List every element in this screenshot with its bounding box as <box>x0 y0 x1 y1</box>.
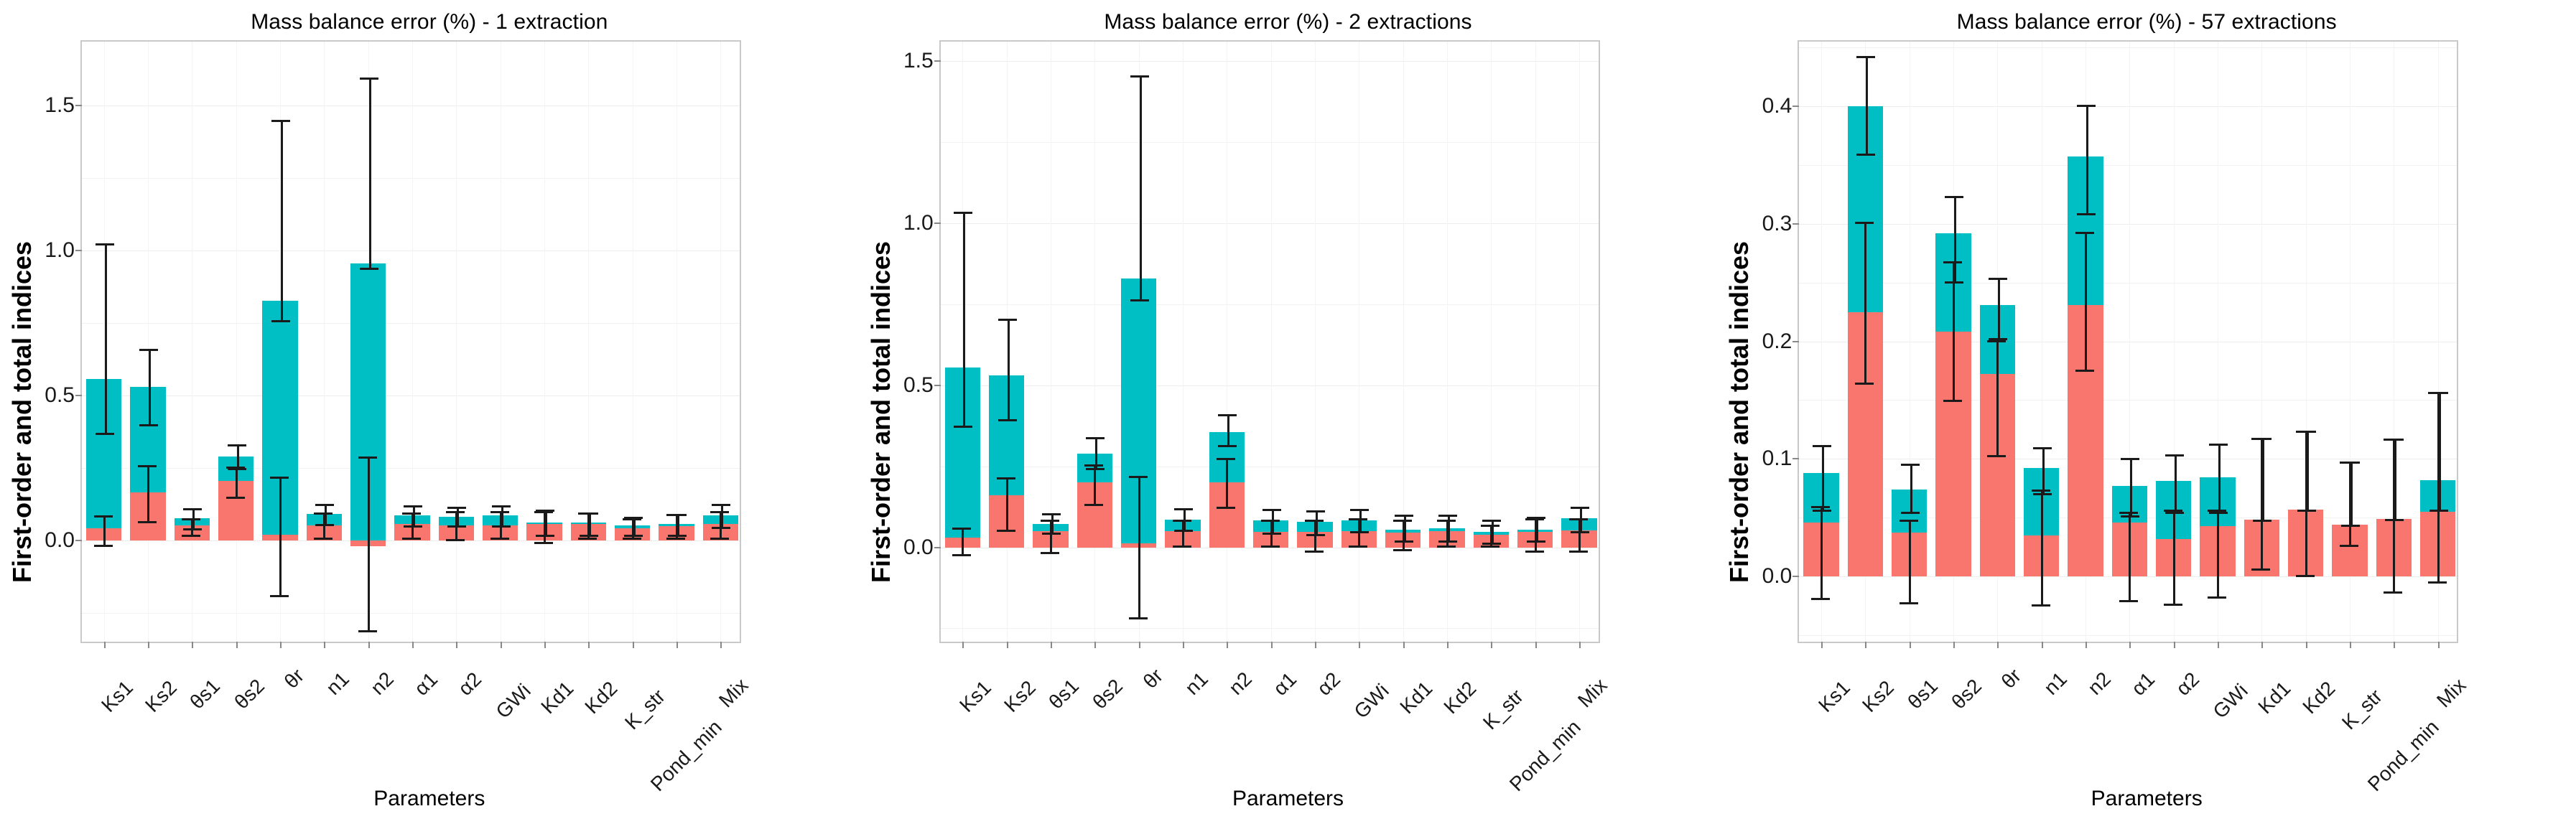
y-axis-tick-label: 0.5 <box>903 373 934 398</box>
x-axis-tick-label: α2 <box>2172 668 2204 700</box>
x-axis-tick-mark <box>104 642 106 648</box>
error-bar-total-cap <box>1263 509 1281 511</box>
x-axis-tick-mark <box>1953 642 1955 648</box>
error-bar-total <box>1866 56 1868 154</box>
error-bar-total-cap <box>1438 540 1457 543</box>
x-axis-tick-label: n2 <box>366 668 399 700</box>
y-axis-tick-mark <box>75 250 82 251</box>
error-bar-first-order <box>279 477 282 596</box>
x-axis-tick-label: Pond_min <box>2363 716 2444 796</box>
error-bar-total <box>1184 508 1186 529</box>
error-bar-total-cap <box>2209 512 2228 514</box>
error-bar-first-order <box>1909 520 1911 602</box>
error-bar-total-cap <box>2165 512 2184 514</box>
error-bar-total-cap <box>1218 414 1237 416</box>
panel-title: Mass balance error (%) - 2 extractions <box>859 10 1718 34</box>
bar-group[interactable] <box>1209 42 1245 642</box>
bar-group[interactable] <box>307 42 342 642</box>
bar-group[interactable] <box>175 42 210 642</box>
x-axis-tick-label: α1 <box>410 668 442 700</box>
error-bar-total-cap <box>1263 533 1281 535</box>
error-bar-first-order <box>236 467 238 497</box>
x-axis-tick-label: α2 <box>454 668 486 700</box>
error-bar-first-order-cap <box>1437 520 1456 522</box>
error-bar-total-cap <box>1395 515 1413 517</box>
error-bar-first-order <box>103 515 106 544</box>
x-axis-tick-mark <box>1821 642 1823 648</box>
error-bar-first-order-cap <box>1217 507 1235 509</box>
x-axis-tick-label: GWi <box>1350 679 1394 723</box>
y-axis-tick-mark <box>75 105 82 106</box>
error-bar-first-order-cap <box>2032 604 2050 607</box>
y-axis-tick-label: 0.0 <box>45 528 75 553</box>
x-axis-tick-label-wrap: Kd2 <box>2323 652 2365 693</box>
error-bar-first-order-cap <box>358 630 377 632</box>
error-bar-total-cap <box>2209 444 2228 446</box>
error-bar-total-cap <box>2121 515 2139 518</box>
bar-group[interactable] <box>1077 42 1112 642</box>
error-bar-first-order-cap <box>446 511 465 513</box>
error-bar-total-cap <box>998 319 1017 321</box>
x-axis-tick-mark <box>1447 642 1449 648</box>
error-bar-total <box>2394 439 2396 518</box>
error-bar-total-cap <box>492 505 511 507</box>
error-bar-first-order <box>1996 340 1999 455</box>
error-bar-total <box>2439 392 2441 510</box>
error-bar-first-order <box>1226 458 1228 507</box>
error-bar-total <box>1998 278 2000 338</box>
y-axis-tick-mark <box>75 540 82 541</box>
bar-group[interactable] <box>571 42 606 642</box>
error-bar-total <box>1095 437 1097 468</box>
bar-group[interactable] <box>989 42 1024 642</box>
error-bar-first-order-cap <box>1569 551 1588 553</box>
error-bar-first-order <box>2085 232 2087 370</box>
bar-group[interactable] <box>1429 42 1464 642</box>
x-axis-tick-label-wrap: α1 <box>1285 652 1317 684</box>
bar-group[interactable] <box>1253 42 1288 642</box>
x-axis-tick-label: α1 <box>1269 668 1301 700</box>
x-axis-tick-mark <box>676 642 678 648</box>
x-axis-tick-mark <box>236 642 238 648</box>
x-axis-tick-label-wrap: α2 <box>470 652 503 684</box>
x-axis-tick-label: α1 <box>2127 668 2159 700</box>
error-bar-first-order-cap <box>534 542 553 544</box>
error-bar-first-order-cap <box>1305 520 1324 522</box>
error-bar-total-cap <box>954 426 972 428</box>
error-bar-total-cap <box>96 433 114 435</box>
x-axis-tick-label: K_str <box>2338 685 2387 734</box>
x-axis-tick-mark <box>1997 642 1999 648</box>
x-axis-tick-mark <box>1271 642 1273 648</box>
x-axis-tick-label: K_str <box>620 685 670 734</box>
error-bar-first-order-cap <box>1173 546 1191 548</box>
error-bar-total-cap <box>1571 507 1589 509</box>
panel-2-extractions: Mass balance error (%) - 2 extractions F… <box>859 0 1718 824</box>
panel-title: Mass balance error (%) - 57 extractions <box>1717 10 2576 34</box>
error-bar-total-cap <box>2121 458 2139 460</box>
x-axis-tick-mark <box>1865 642 1866 648</box>
y-axis-tick-mark <box>1792 223 1799 225</box>
error-bar-total-cap <box>1395 540 1413 543</box>
x-axis-tick-mark <box>2261 642 2263 648</box>
error-bar-first-order-cap <box>1569 518 1588 520</box>
error-bar-total-cap <box>1571 531 1589 533</box>
x-axis-tick-label: Pond_min <box>646 716 727 796</box>
error-bar-first-order-cap <box>314 512 333 515</box>
figure-multi-panel: Mass balance error (%) - 1 extraction Fi… <box>0 0 2576 824</box>
error-bar-total-cap <box>1482 543 1501 545</box>
x-axis-tick-mark <box>1315 642 1316 648</box>
bar-group[interactable] <box>394 42 429 642</box>
error-bar-first-order-cap <box>997 530 1015 532</box>
error-bar-total <box>1272 509 1274 533</box>
error-bar-first-order-cap <box>270 477 289 479</box>
x-axis-tick-label-wrap: θr <box>292 652 321 680</box>
error-bar-total <box>1404 515 1406 540</box>
x-axis-tick-label: n2 <box>1224 668 1257 700</box>
error-bar-first-order-cap <box>94 545 113 547</box>
x-axis-tick-label-wrap: n2 <box>382 652 414 684</box>
error-bar-total-cap <box>2253 520 2272 522</box>
error-bar-total-cap <box>2385 519 2404 521</box>
x-axis-tick-label-wrap: θr <box>2010 652 2039 680</box>
error-bar-total-cap <box>1086 437 1105 439</box>
error-bar-first-order <box>1094 464 1096 503</box>
error-bar-first-order <box>2041 490 2043 604</box>
x-axis-tick-label-wrap: α2 <box>1329 652 1361 684</box>
error-bar-total <box>2218 444 2221 512</box>
error-bar-total-cap <box>183 528 202 530</box>
x-axis-tick-label: θs2 <box>1947 675 1986 714</box>
error-bar-total-cap <box>271 120 290 122</box>
y-axis-tick-mark <box>1792 341 1799 342</box>
error-bar-first-order-cap <box>94 515 113 518</box>
error-bar-first-order-cap <box>446 539 465 541</box>
bar-group[interactable] <box>1165 42 1200 642</box>
error-bar-total-cap <box>1174 508 1193 510</box>
error-bar-total <box>1359 509 1362 531</box>
y-axis-tick-mark <box>1792 458 1799 459</box>
error-bar-first-order-cap <box>490 538 509 540</box>
error-bar-first-order-cap <box>2208 596 2226 599</box>
error-bar-first-order-cap <box>2251 568 2270 571</box>
error-bar-total-cap <box>2033 447 2052 449</box>
error-bar-total-cap <box>2077 105 2096 107</box>
bar-group[interactable] <box>439 42 474 642</box>
error-bar-total-cap <box>2341 462 2360 464</box>
x-axis-tick-label-wrap: n2 <box>1240 652 1273 684</box>
plot-area: 0.00.10.20.30.4Ks1Ks2θs1θs2θrn1n2α1α2GWi… <box>1798 40 2458 643</box>
error-bar-total <box>1910 464 1912 512</box>
error-bar-total-cap <box>1527 517 1545 519</box>
x-axis-tick-label-wrap: n1 <box>338 652 370 684</box>
x-axis-tick-label-wrap: α1 <box>2144 652 2176 684</box>
error-bar-first-order-cap <box>2296 575 2315 577</box>
error-bar-total <box>2042 447 2045 493</box>
y-axis-tick-label: 0.4 <box>1762 94 1792 118</box>
x-axis-tick-mark <box>2174 642 2175 648</box>
bar-group[interactable] <box>703 42 738 642</box>
x-axis-tick-mark <box>1535 642 1537 648</box>
error-bar-first-order-cap <box>1900 520 1918 522</box>
error-bar-first-order-cap <box>1129 476 1148 478</box>
x-axis-tick-label-wrap: n2 <box>2099 652 2131 684</box>
error-bar-total <box>369 78 371 268</box>
x-axis-tick-mark <box>192 642 193 648</box>
error-bar-first-order-cap <box>2384 591 2402 594</box>
error-bar-first-order-cap <box>2119 512 2138 514</box>
error-bar-total-cap <box>668 535 687 537</box>
error-bar-first-order-cap <box>1525 551 1544 553</box>
error-bar-first-order-cap <box>138 521 157 523</box>
x-axis-tick-mark <box>2394 642 2395 648</box>
x-axis-tick-mark <box>1491 642 1492 648</box>
error-bar-total <box>1954 196 1956 282</box>
y-axis-tick-label: 0.0 <box>1762 564 1792 589</box>
error-bar-total-cap <box>1482 520 1501 522</box>
error-bar-total <box>1822 445 1824 510</box>
error-bar-total-cap <box>96 243 114 245</box>
x-axis-tick-label: Ks1 <box>955 676 996 717</box>
error-bar-total-cap <box>271 320 290 322</box>
error-bar-total-cap <box>1901 464 1920 466</box>
y-axis-label: First-order and total indices <box>1723 0 1756 824</box>
x-axis-tick-label: n1 <box>322 668 354 700</box>
bar-group[interactable] <box>659 42 694 642</box>
error-bar-total-cap <box>2429 510 2448 512</box>
error-bar-total-cap <box>1945 196 1963 198</box>
plot-area: 0.00.51.01.5Ks1Ks2θs1θs2θrn1n2α1α2GWiKd1… <box>939 40 1600 643</box>
error-bar-first-order-cap <box>1129 617 1148 619</box>
error-bar-total-cap <box>2077 213 2096 215</box>
error-bar-total <box>1580 507 1582 531</box>
error-bar-total-cap <box>2033 493 2052 495</box>
y-axis-tick-label: 1.5 <box>45 93 75 118</box>
error-bar-total-cap <box>1350 531 1369 533</box>
error-bar-total-cap <box>2429 392 2448 394</box>
y-axis-tick-label: 1.5 <box>903 49 934 73</box>
error-bar-first-order-cap <box>182 518 200 520</box>
error-bar-first-order-cap <box>2164 604 2182 606</box>
error-bar-first-order-cap <box>710 511 729 513</box>
error-bar-first-order-cap <box>1900 602 1918 604</box>
x-axis-tick-mark <box>720 642 722 648</box>
error-bar-total-cap <box>1086 468 1105 470</box>
error-bar-total-cap <box>2385 439 2404 441</box>
error-bar-first-order-cap <box>1855 222 1874 224</box>
x-axis-tick-label: Ks1 <box>97 676 138 717</box>
bar-group[interactable] <box>483 42 518 642</box>
error-bar-total-cap <box>580 535 598 537</box>
error-bar-first-order-cap <box>578 538 597 540</box>
x-axis-tick-mark <box>1910 642 1911 648</box>
error-bar-total-cap <box>954 212 972 214</box>
error-bar-total-cap <box>1901 512 1920 514</box>
error-bar-total-cap <box>1042 533 1061 535</box>
error-bar-first-order <box>2217 510 2219 596</box>
x-axis-tick-mark <box>544 642 546 648</box>
error-bar-first-order-cap <box>1987 455 2006 457</box>
bar-group[interactable] <box>1474 42 1509 642</box>
error-bar-total <box>149 349 151 424</box>
error-bar-total-cap <box>1813 445 1831 447</box>
error-bar-total-cap <box>2341 525 2360 527</box>
error-bar-first-order-cap <box>623 538 641 540</box>
error-bar-total-cap <box>1527 540 1545 543</box>
error-bar-first-order <box>368 457 370 630</box>
error-bar-total <box>237 444 239 467</box>
error-bar-total-cap <box>624 517 643 519</box>
error-bar-total <box>2175 454 2177 512</box>
bar-group[interactable] <box>86 42 121 642</box>
y-axis-tick-mark <box>934 223 941 224</box>
error-bar-total <box>281 120 283 320</box>
error-bar-total-cap <box>1438 515 1457 517</box>
error-bar-first-order-cap <box>314 538 333 540</box>
x-axis-tick-mark <box>2086 642 2087 648</box>
error-bar-total-cap <box>1989 278 2007 280</box>
x-axis-tick-mark <box>1139 642 1140 648</box>
error-bar-total-cap <box>139 424 158 426</box>
x-axis-tick-mark <box>1007 642 1008 648</box>
error-bar-first-order-cap <box>2032 490 2050 492</box>
x-axis-tick-label-wrap: Kd2 <box>1465 652 1507 693</box>
error-bar-first-order-cap <box>1811 506 1830 508</box>
error-bar-total <box>192 508 195 528</box>
error-bar-first-order-cap <box>1349 546 1367 548</box>
bar-group[interactable] <box>130 42 165 642</box>
bars-layer <box>941 42 1599 642</box>
error-bar-total <box>325 504 327 524</box>
x-axis-tick-label-wrap: Kd2 <box>606 652 648 693</box>
error-bar-first-order-cap <box>1261 520 1280 522</box>
error-bar-first-order-cap <box>402 512 421 515</box>
bar-group[interactable] <box>2332 42 2367 642</box>
bar-segment-total[interactable] <box>945 367 980 548</box>
bar-group[interactable] <box>526 42 562 642</box>
error-bar-total-cap <box>1218 445 1237 447</box>
x-axis-tick-mark <box>1359 642 1360 648</box>
bar-group[interactable] <box>1385 42 1420 642</box>
error-bar-total-cap <box>2165 454 2184 457</box>
error-bar-first-order-cap <box>952 554 971 556</box>
error-bar-total <box>677 514 679 534</box>
y-axis-tick-label: 0.1 <box>1762 446 1792 471</box>
error-bar-first-order-cap <box>1084 504 1103 506</box>
error-bar-first-order-cap <box>226 497 245 499</box>
error-bar-first-order-cap <box>2340 545 2358 547</box>
error-bar-total-cap <box>1042 513 1061 515</box>
bar-group[interactable] <box>218 42 254 642</box>
error-bar-total-cap <box>1174 530 1193 532</box>
panel-1-extraction: Mass balance error (%) - 1 extraction Fi… <box>0 0 859 824</box>
error-bar-total <box>963 212 965 426</box>
error-bar-total <box>721 504 723 527</box>
bar-group[interactable] <box>1342 42 1377 642</box>
error-bar-first-order <box>962 528 964 553</box>
x-axis-tick-mark <box>962 642 964 648</box>
error-bar-total <box>1140 75 1142 299</box>
x-axis-tick-label: GWi <box>491 679 535 723</box>
error-bar-total <box>1316 510 1318 535</box>
x-axis-tick-mark <box>501 642 502 648</box>
error-bar-first-order-cap <box>1437 546 1456 548</box>
error-bar-total <box>1536 517 1538 541</box>
bar-group[interactable] <box>615 42 650 642</box>
x-axis-tick-mark <box>456 642 457 648</box>
error-bar-total-cap <box>1306 510 1325 512</box>
error-bar-first-order-cap <box>1481 546 1499 548</box>
error-bar-total-cap <box>712 504 730 506</box>
panel-57-extractions: Mass balance error (%) - 57 extractions … <box>1717 0 2576 824</box>
error-bar-first-order-cap <box>490 511 509 513</box>
y-axis-tick-mark <box>934 60 941 62</box>
error-bar-first-order-cap <box>2075 370 2094 372</box>
error-bar-total-cap <box>228 468 246 470</box>
error-bar-total-cap <box>1856 154 1875 156</box>
x-axis-tick-label: θs2 <box>1089 675 1128 714</box>
error-bar-total-cap <box>360 78 378 80</box>
error-bar-first-order-cap <box>1173 520 1191 522</box>
y-axis-tick-label: 0.5 <box>45 383 75 408</box>
y-axis-tick-label: 0.2 <box>1762 329 1792 354</box>
error-bar-first-order <box>2129 512 2131 600</box>
x-axis-tick-mark <box>368 642 370 648</box>
error-bar-first-order-cap <box>2119 600 2138 602</box>
x-axis-tick-mark <box>1227 642 1228 648</box>
x-axis-tick-label: GWi <box>2208 679 2252 723</box>
error-bar-total-cap <box>1350 509 1369 511</box>
x-axis-tick-mark <box>324 642 325 648</box>
y-axis-tick-label: 0.0 <box>903 535 934 560</box>
error-bar-first-order <box>1138 476 1140 617</box>
error-bar-total-cap <box>315 504 334 506</box>
x-axis-tick-label: n1 <box>1181 668 1213 700</box>
error-bar-first-order <box>1006 477 1008 529</box>
error-bar-total-cap <box>1945 281 1963 284</box>
error-bar-total-cap <box>668 514 687 516</box>
x-axis-tick-label: n1 <box>2040 668 2072 700</box>
x-axis-tick-label: θs2 <box>230 675 269 714</box>
x-axis-tick-mark <box>2438 642 2440 648</box>
bars-layer <box>82 42 740 642</box>
x-axis-tick-mark <box>2306 642 2307 648</box>
x-axis-tick-label-wrap: θr <box>1151 652 1180 680</box>
y-axis-tick-label: 0.3 <box>1762 212 1792 236</box>
error-bar-total-cap <box>315 524 334 526</box>
error-bar-first-order-cap <box>997 477 1015 479</box>
error-bar-first-order-cap <box>1987 340 2006 342</box>
y-axis-tick-mark <box>75 395 82 396</box>
error-bar-total-cap <box>1856 56 1875 58</box>
error-bar-total-cap <box>1130 75 1149 78</box>
x-axis-tick-label: Ks1 <box>1814 676 1855 717</box>
error-bar-total-cap <box>183 508 202 510</box>
error-bar-first-order-cap <box>270 595 289 597</box>
error-bar-first-order-cap <box>1481 525 1499 527</box>
error-bar-total-cap <box>624 535 643 537</box>
x-axis-tick-mark <box>633 642 634 648</box>
error-bar-total-cap <box>2297 510 2316 512</box>
error-bar-total-cap <box>2297 431 2316 433</box>
error-bar-first-order-cap <box>666 538 685 540</box>
error-bar-total-cap <box>998 419 1017 421</box>
x-axis-tick-mark <box>412 642 414 648</box>
plot-area: 0.00.51.01.5Ks1Ks2θs1θs2θrn1n2α1α2GWiKd1… <box>80 40 741 643</box>
error-bar-first-order-cap <box>182 535 200 537</box>
error-bar-first-order-cap <box>1305 551 1324 553</box>
